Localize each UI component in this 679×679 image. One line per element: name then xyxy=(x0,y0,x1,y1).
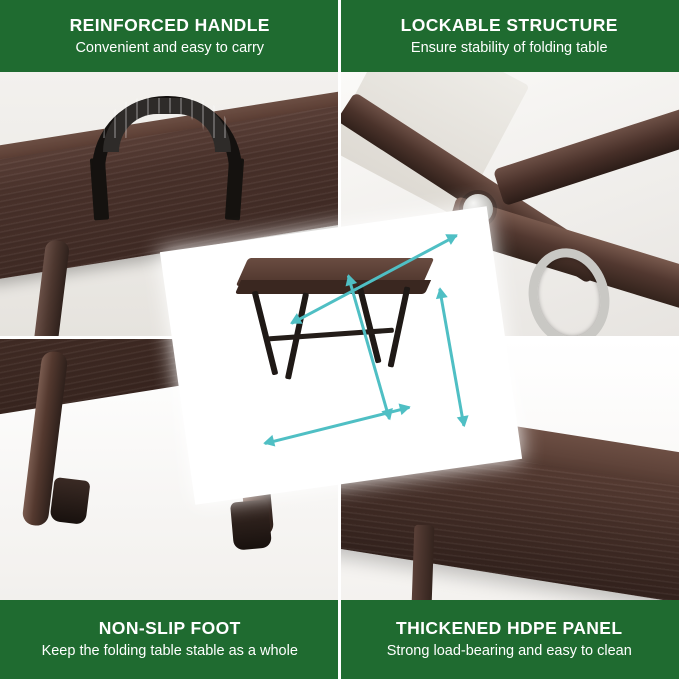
caption-thickened-hdpe-panel: THICKENED HDPE PANEL Strong load-bearing… xyxy=(340,600,679,679)
dimension-arrow-height xyxy=(347,275,391,420)
product-leg-front-left xyxy=(252,291,279,376)
caption-non-slip-foot: NON-SLIP FOOT Keep the folding table sta… xyxy=(0,600,340,679)
handle-grip-ribs xyxy=(103,98,231,138)
caption-reinforced-handle: REINFORCED HANDLE Convenient and easy to… xyxy=(0,0,340,72)
non-slip-foot-left xyxy=(49,477,90,525)
dimension-arrow-width xyxy=(264,406,410,445)
caption-title-non-slip-foot: NON-SLIP FOOT xyxy=(99,618,241,638)
caption-lockable-structure: LOCKABLE STRUCTURE Ensure stability of f… xyxy=(340,0,679,72)
dimension-arrow-depth xyxy=(439,288,466,426)
caption-subtitle-non-slip-foot: Keep the folding table stable as a whole xyxy=(42,643,298,660)
caption-subtitle-thickened-hdpe-panel: Strong load-bearing and easy to clean xyxy=(387,643,632,660)
product-table-top-edge xyxy=(235,280,431,294)
caption-title-lockable-structure: LOCKABLE STRUCTURE xyxy=(401,15,618,35)
caption-subtitle-reinforced-handle: Convenient and easy to carry xyxy=(75,40,264,57)
caption-title-reinforced-handle: REINFORCED HANDLE xyxy=(70,15,270,35)
non-slip-foot-right xyxy=(230,499,272,550)
caption-divider-top xyxy=(338,0,341,72)
center-product-illustration xyxy=(176,228,506,483)
caption-divider-bottom xyxy=(338,600,341,679)
product-feature-infographic: REINFORCED HANDLE Convenient and easy to… xyxy=(0,0,679,679)
caption-title-thickened-hdpe-panel: THICKENED HDPE PANEL xyxy=(396,618,622,638)
caption-subtitle-lockable-structure: Ensure stability of folding table xyxy=(411,40,608,57)
hdpe-panel-support-leg xyxy=(412,525,435,600)
